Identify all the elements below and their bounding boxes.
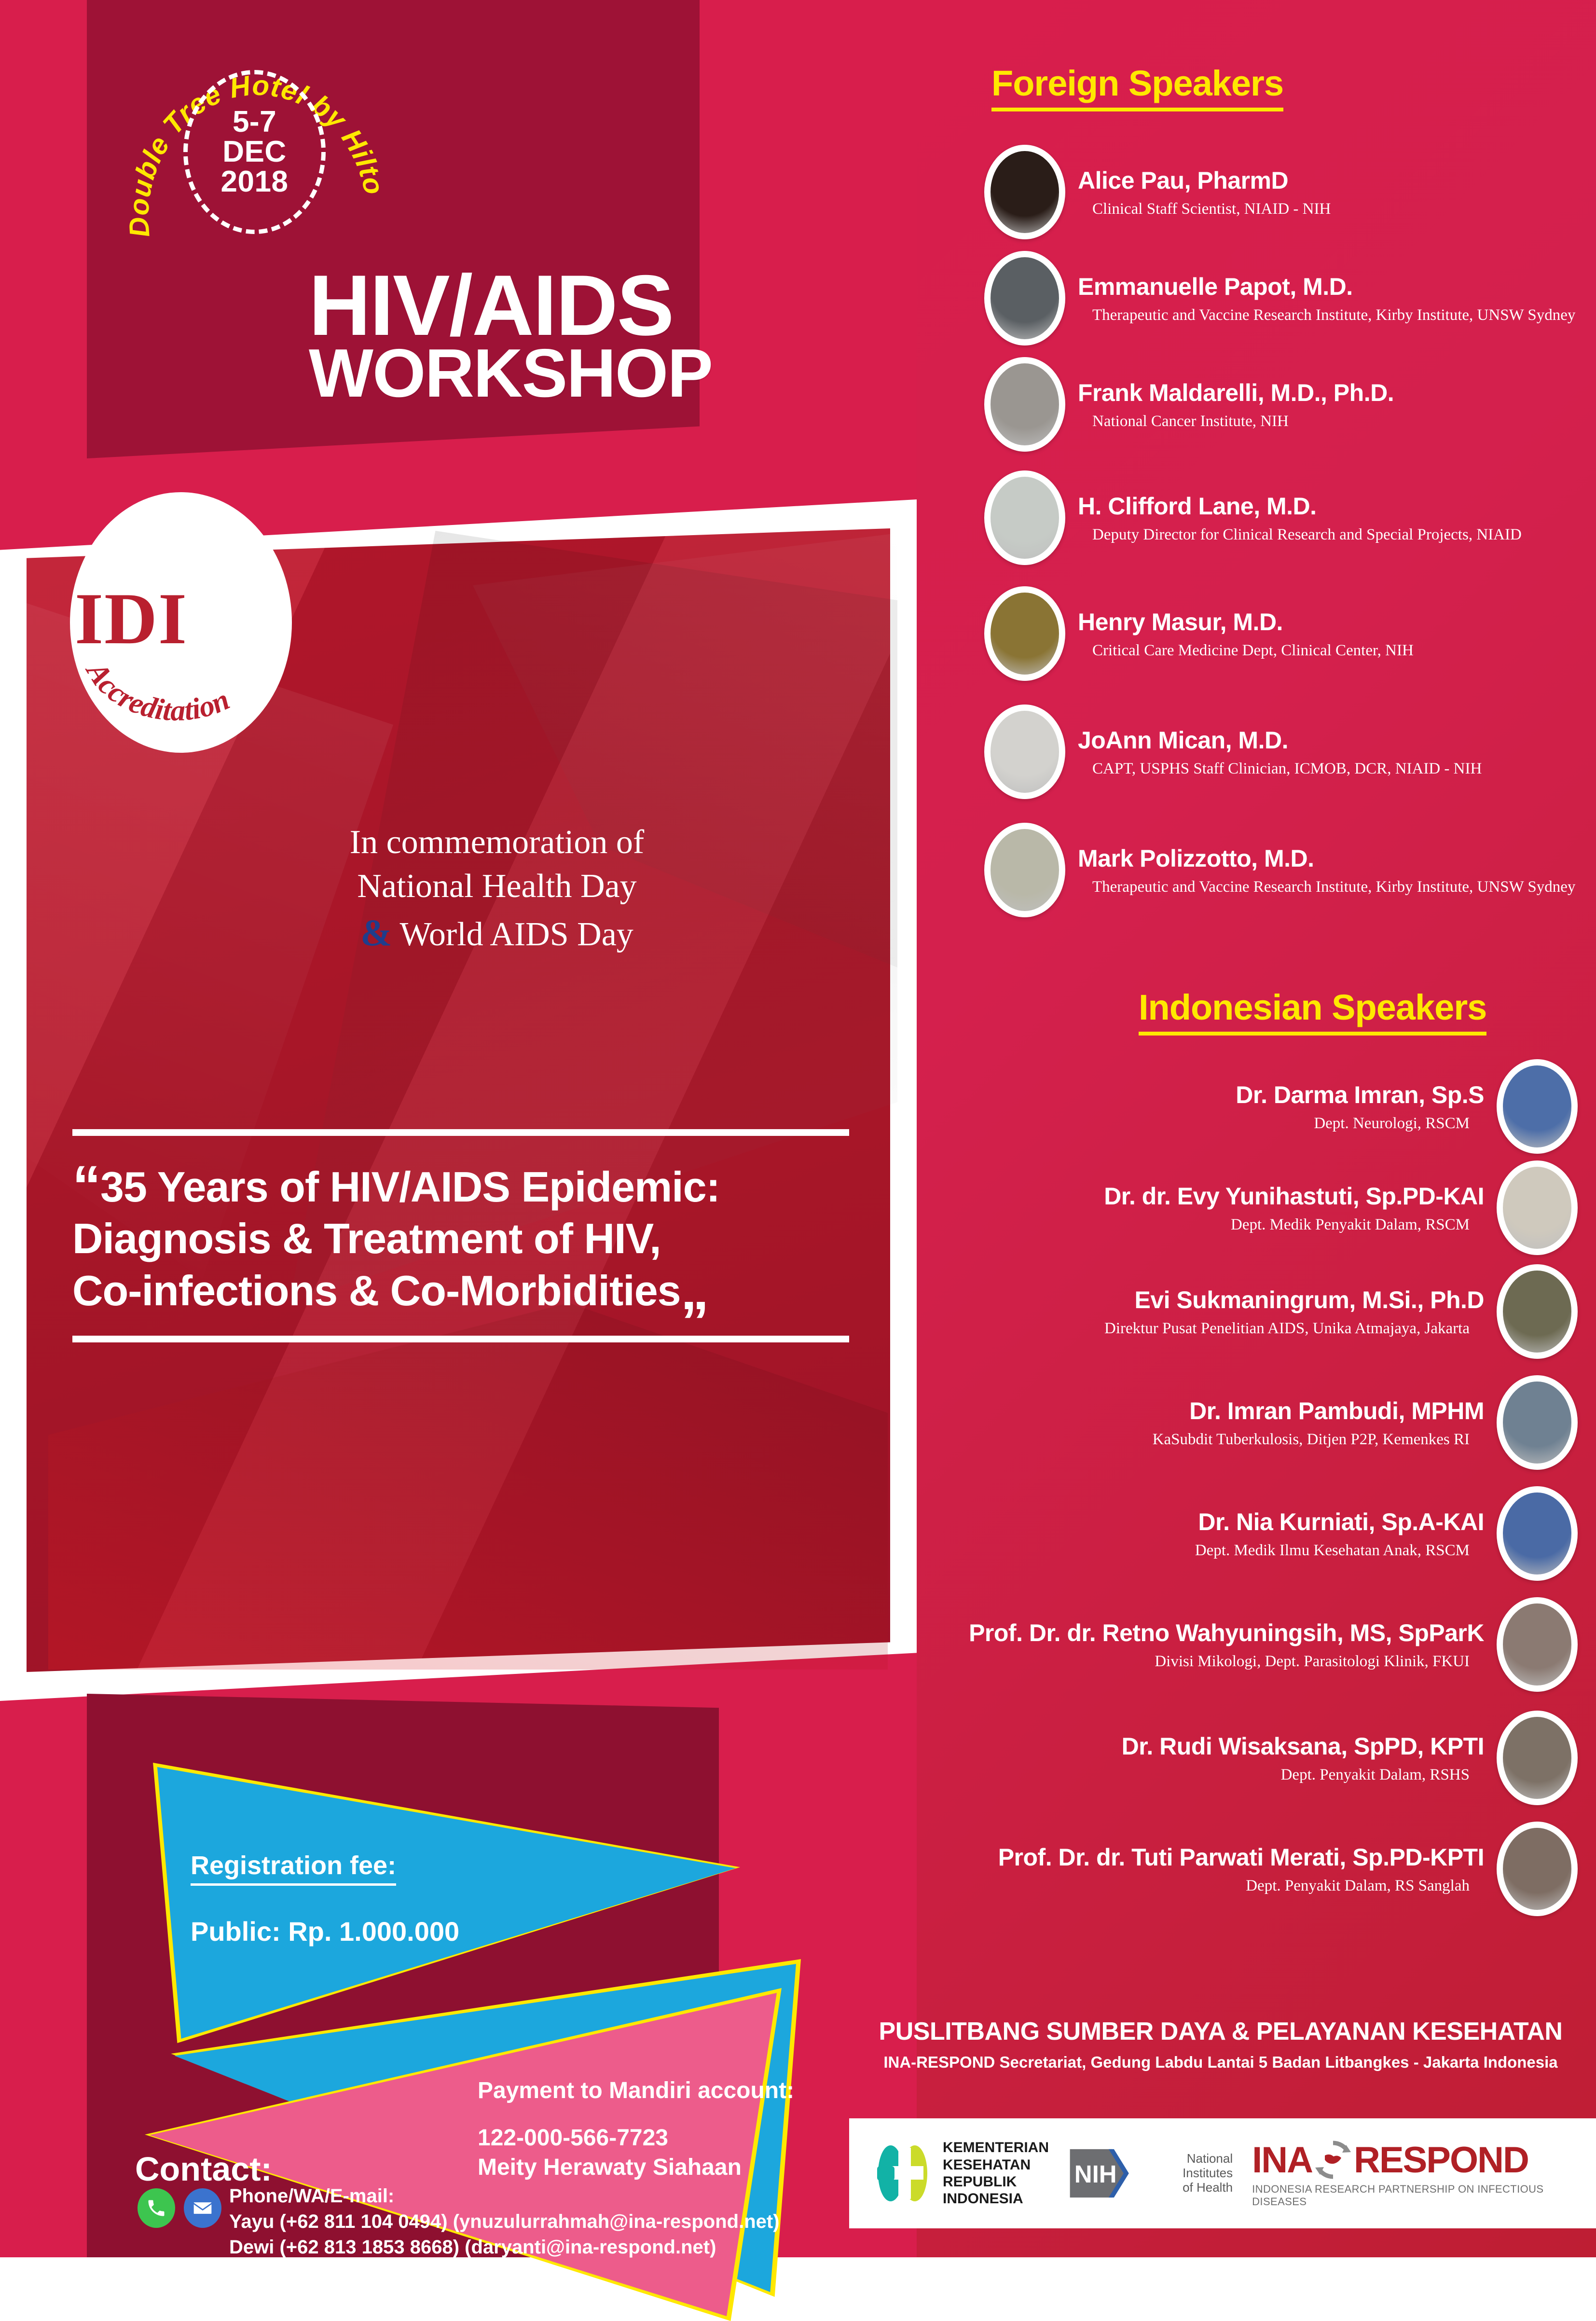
speaker-name: Evi Sukmaningrum, M.Si., Ph.D xyxy=(977,1286,1484,1314)
nih-line-1: National Institutes xyxy=(1142,2152,1233,2181)
payment-label: Payment to Mandiri account: xyxy=(478,2077,794,2104)
commemoration-block: In commemoration of National Health Day … xyxy=(212,820,782,957)
title-line-1: HIV/AIDS xyxy=(309,268,859,344)
speaker-name: H. Clifford Lane, M.D. xyxy=(1078,492,1522,520)
speaker-photo xyxy=(1497,1711,1578,1805)
speaker-name: Dr. Darma Imran, Sp.S xyxy=(977,1081,1484,1109)
date-day: 5-7 xyxy=(233,107,276,137)
commemoration-line-2: National Health Day xyxy=(212,864,782,908)
speaker-affiliation: Dept. Penyakit Dalam, RSHS xyxy=(977,1766,1484,1784)
speaker-photo-image xyxy=(991,593,1059,675)
speaker-text: Mark Polizzotto, M.D.Therapeutic and Vac… xyxy=(1065,844,1588,896)
close-quote-icon: „ xyxy=(681,1258,709,1322)
nih-logo: NIH National Institutes of Health xyxy=(1068,2142,1233,2205)
contact-icon-group xyxy=(138,2188,221,2228)
speaker-photo xyxy=(984,145,1065,239)
speaker-text: H. Clifford Lane, M.D. Deputy Director f… xyxy=(1065,492,1534,544)
speaker-photo xyxy=(984,251,1065,345)
speaker-row: Dr. Rudi Wisaksana, SpPD, KPTIDept. Peny… xyxy=(965,1711,1578,1805)
email-icon[interactable] xyxy=(184,2188,221,2228)
speaker-text: Henry Masur, M.D.Critical Care Medicine … xyxy=(1065,608,1426,660)
speaker-affiliation: National Cancer Institute, NIH xyxy=(1078,413,1394,430)
speaker-name: Prof. Dr. dr. Retno Wahyuningsih, MS, Sp… xyxy=(969,1619,1484,1647)
ina-respond-tagline: INDONESIA RESEARCH PARTNERSHIP ON INFECT… xyxy=(1252,2183,1572,2208)
title-line-2: WORKSHOP xyxy=(309,344,859,404)
footer-address: INA-RESPOND Secretariat, Gedung Labdu La… xyxy=(868,2053,1573,2072)
speaker-row: Dr. Nia Kurniati, Sp.A-KAIDept. Medik Il… xyxy=(965,1486,1578,1581)
commemoration-line-3: World AIDS Day xyxy=(399,916,633,953)
speaker-text: Prof. Dr. dr. Retno Wahyuningsih, MS, Sp… xyxy=(956,1619,1497,1671)
speaker-photo xyxy=(1497,1597,1578,1692)
speaker-affiliation: KaSubdit Tuberkulosis, Ditjen P2P, Kemen… xyxy=(977,1431,1484,1449)
speaker-row: Mark Polizzotto, M.D.Therapeutic and Vac… xyxy=(984,823,1578,917)
contact-details: Phone/WA/E-mail: Yayu (+62 811 104 0494)… xyxy=(229,2183,780,2260)
speaker-row: JoAnn Mican, M.D.CAPT, USPHS Staff Clini… xyxy=(984,705,1578,799)
kemenkes-line-3: REPUBLIK xyxy=(943,2173,1049,2190)
contact-person-2: Dewi (+62 813 1853 8668) (daryanti@ina-r… xyxy=(229,2235,780,2260)
speaker-photo-image xyxy=(1503,1167,1571,1249)
kemenkes-line-1: KEMENTERIAN xyxy=(943,2139,1049,2156)
speaker-name: Henry Masur, M.D. xyxy=(1078,608,1414,636)
speaker-name: Emmanuelle Papot, M.D. xyxy=(1078,273,1575,301)
speaker-photo-image xyxy=(991,711,1059,793)
ina-word-ina: INA xyxy=(1252,2139,1312,2181)
speaker-affiliation: Dept. Neurologi, RSCM xyxy=(977,1115,1484,1133)
page-title: HIV/AIDS WORKSHOP xyxy=(309,268,859,404)
speaker-text: Dr. Imran Pambudi, MPHMKaSubdit Tuberkul… xyxy=(965,1397,1497,1449)
speaker-affiliation: Therapeutic and Vaccine Research Institu… xyxy=(1078,878,1575,896)
speaker-photo xyxy=(1497,1059,1578,1154)
speaker-affiliation: CAPT, USPHS Staff Clinician, ICMOB, DCR,… xyxy=(1078,760,1482,778)
speaker-text: Frank Maldarelli, M.D., Ph.D.National Ca… xyxy=(1065,379,1406,430)
speaker-row: Dr. Imran Pambudi, MPHMKaSubdit Tuberkul… xyxy=(965,1375,1578,1470)
svg-text:Accreditation: Accreditation xyxy=(79,655,234,727)
speaker-text: Dr. Rudi Wisaksana, SpPD, KPTIDept. Peny… xyxy=(965,1732,1497,1784)
date-circle: 5-7 DEC 2018 xyxy=(183,70,326,234)
speaker-row: Prof. Dr. dr. Retno Wahyuningsih, MS, Sp… xyxy=(965,1597,1578,1692)
ina-respond-wordmark: INA RESPOND xyxy=(1252,2139,1572,2181)
footer-organization: PUSLITBANG SUMBER DAYA & PELAYANAN KESEH… xyxy=(868,2017,1573,2046)
date-year: 2018 xyxy=(221,167,289,197)
kemenkes-wordmark: KEMENTERIAN KESEHATAN REPUBLIK INDONESIA xyxy=(943,2139,1049,2208)
speaker-photo xyxy=(984,823,1065,917)
speaker-name: Alice Pau, PharmD xyxy=(1078,166,1331,194)
speaker-photo-image xyxy=(991,257,1059,339)
speaker-affiliation: Therapeutic and Vaccine Research Institu… xyxy=(1078,306,1575,324)
speaker-text: Dr. dr. Evy Yunihastuti, Sp.PD-KAIDept. … xyxy=(965,1182,1497,1234)
speaker-photo-image xyxy=(1503,1828,1571,1910)
speaker-photo xyxy=(1497,1375,1578,1470)
theme-rule-top xyxy=(72,1129,849,1136)
contact-heading: Contact: xyxy=(135,2150,272,2188)
speaker-photo xyxy=(1497,1160,1578,1255)
speaker-affiliation: Dept. Medik Ilmu Kesehatan Anak, RSCM xyxy=(977,1542,1484,1560)
speaker-row: Evi Sukmaningrum, M.Si., Ph.DDirektur Pu… xyxy=(965,1264,1578,1359)
speaker-photo-image xyxy=(991,363,1059,445)
speaker-affiliation: Critical Care Medicine Dept, Clinical Ce… xyxy=(1078,642,1414,660)
speaker-row: Frank Maldarelli, M.D., Ph.D.National Ca… xyxy=(984,357,1578,452)
speaker-row: Dr. Darma Imran, Sp.SDept. Neurologi, RS… xyxy=(965,1059,1578,1154)
speaker-row: Alice Pau, PharmDClinical Staff Scientis… xyxy=(984,145,1578,239)
speaker-name: Frank Maldarelli, M.D., Ph.D. xyxy=(1078,379,1394,407)
speaker-photo xyxy=(984,470,1065,565)
speaker-affiliation: Direktur Pusat Penelitian AIDS, Unika At… xyxy=(977,1320,1484,1338)
speaker-row: Emmanuelle Papot, M.D.Therapeutic and Va… xyxy=(984,251,1578,345)
speaker-name: Dr. Imran Pambudi, MPHM xyxy=(977,1397,1484,1425)
ina-respond-circle-icon xyxy=(1312,2139,1354,2181)
ina-respond-logo: INA RESPOND INDONESIA RESEARCH PARTNERSH… xyxy=(1252,2139,1572,2208)
speaker-name: Prof. Dr. dr. Tuti Parwati Merati, Sp.PD… xyxy=(977,1843,1484,1871)
speaker-photo-image xyxy=(1503,1603,1571,1685)
nih-hexagon-icon: NIH xyxy=(1068,2142,1134,2205)
speaker-photo-image xyxy=(1503,1492,1571,1575)
kemenkes-line-2: KESEHATAN xyxy=(943,2156,1049,2173)
payment-account-name: Meity Herawaty Siahaan xyxy=(478,2155,742,2180)
sponsor-logo-bar: KEMENTERIAN KESEHATAN REPUBLIK INDONESIA… xyxy=(849,2118,1596,2228)
ampersand: & xyxy=(360,912,392,953)
theme-text: “35 Years of HIV/AIDS Epidemic: Diagnosi… xyxy=(72,1161,849,1316)
ina-word-respond: RESPOND xyxy=(1354,2139,1528,2181)
commemoration-line-1: In commemoration of xyxy=(212,820,782,864)
speaker-text: Dr. Darma Imran, Sp.SDept. Neurologi, RS… xyxy=(965,1081,1497,1133)
speaker-name: Dr. dr. Evy Yunihastuti, Sp.PD-KAI xyxy=(977,1182,1484,1210)
speaker-photo xyxy=(984,705,1065,799)
indonesian-speakers-heading: Indonesian Speakers xyxy=(1139,987,1486,1036)
speaker-name: Dr. Rudi Wisaksana, SpPD, KPTI xyxy=(977,1732,1484,1760)
speaker-name: JoAnn Mican, M.D. xyxy=(1078,726,1482,754)
speaker-affiliation: Divisi Mikologi, Dept. Parasitologi Klin… xyxy=(969,1653,1484,1671)
speaker-affiliation: Dept. Penyakit Dalam, RS Sanglah xyxy=(977,1877,1484,1895)
accreditation-arc-text: Accreditation xyxy=(77,642,280,762)
commemoration-line-3-wrap: & World AIDS Day xyxy=(212,908,782,957)
speaker-photo-image xyxy=(991,477,1059,559)
speaker-photo-image xyxy=(991,829,1059,911)
theme-line-2: Diagnosis & Treatment of HIV, xyxy=(72,1215,661,1262)
speaker-photo xyxy=(1497,1264,1578,1359)
payment-details: 122-000-566-7723 Meity Herawaty Siahaan xyxy=(478,2123,742,2183)
speaker-photo-image xyxy=(1503,1271,1571,1353)
theme-rule-bottom xyxy=(72,1336,849,1342)
speaker-name: Mark Polizzotto, M.D. xyxy=(1078,844,1575,872)
open-quote-icon: “ xyxy=(72,1154,100,1218)
date-month: DEC xyxy=(222,137,286,167)
speaker-photo-image xyxy=(1503,1717,1571,1799)
kemenkes-logo: KEMENTERIAN KESEHATAN REPUBLIK INDONESIA xyxy=(873,2137,1049,2210)
theme-line-1: 35 Years of HIV/AIDS Epidemic: xyxy=(100,1163,720,1211)
nih-mark-text: NIH xyxy=(1074,2160,1117,2188)
registration-fee-label: Registration fee: xyxy=(191,1851,396,1886)
registration-fee-value: Public: Rp. 1.000.000 xyxy=(191,1916,459,1947)
contact-channels-label: Phone/WA/E-mail: xyxy=(229,2183,780,2209)
speaker-text: JoAnn Mican, M.D.CAPT, USPHS Staff Clini… xyxy=(1065,726,1494,778)
phone-icon[interactable] xyxy=(138,2188,175,2228)
payment-account-number: 122-000-566-7723 xyxy=(478,2125,668,2151)
speaker-affiliation: Deputy Director for Clinical Research an… xyxy=(1078,526,1522,544)
speaker-photo xyxy=(984,586,1065,681)
theme-line-3: Co-infections & Co-Morbidities xyxy=(72,1267,681,1314)
contact-person-1: Yayu (+62 811 104 0494) (ynuzulurrahmah@… xyxy=(229,2209,780,2235)
speaker-photo xyxy=(1497,1486,1578,1581)
speaker-affiliation: Dept. Medik Penyakit Dalam, RSCM xyxy=(977,1216,1484,1234)
speaker-row: H. Clifford Lane, M.D. Deputy Director f… xyxy=(984,470,1578,565)
speaker-photo xyxy=(1497,1822,1578,1916)
speaker-name: Dr. Nia Kurniati, Sp.A-KAI xyxy=(977,1508,1484,1536)
speaker-row: Prof. Dr. dr. Tuti Parwati Merati, Sp.PD… xyxy=(965,1822,1578,1916)
theme-block: “35 Years of HIV/AIDS Epidemic: Diagnosi… xyxy=(72,1129,849,1342)
speaker-photo-image xyxy=(1503,1065,1571,1147)
speaker-text: Emmanuelle Papot, M.D.Therapeutic and Va… xyxy=(1065,273,1588,324)
nih-wordmark: National Institutes of Health xyxy=(1142,2152,1233,2195)
speaker-row: Henry Masur, M.D.Critical Care Medicine … xyxy=(984,586,1578,681)
speaker-text: Alice Pau, PharmDClinical Staff Scientis… xyxy=(1065,166,1343,218)
date-venue-badge: Double Tree Hotel by Hilton, Jakarta 5-7… xyxy=(113,17,384,280)
kemenkes-line-4: INDONESIA xyxy=(943,2190,1049,2207)
speaker-affiliation: Clinical Staff Scientist, NIAID - NIH xyxy=(1078,200,1331,218)
speaker-photo-image xyxy=(991,151,1059,233)
speaker-text: Evi Sukmaningrum, M.Si., Ph.DDirektur Pu… xyxy=(965,1286,1497,1338)
speaker-photo-image xyxy=(1503,1382,1571,1464)
nih-line-2: of Health xyxy=(1142,2181,1233,2195)
speaker-row: Dr. dr. Evy Yunihastuti, Sp.PD-KAIDept. … xyxy=(965,1160,1578,1255)
kemenkes-flower-icon xyxy=(873,2137,935,2210)
speaker-photo xyxy=(984,357,1065,452)
speaker-text: Prof. Dr. dr. Tuti Parwati Merati, Sp.PD… xyxy=(965,1843,1497,1895)
speaker-text: Dr. Nia Kurniati, Sp.A-KAIDept. Medik Il… xyxy=(965,1508,1497,1560)
foreign-speakers-heading: Foreign Speakers xyxy=(991,63,1283,111)
